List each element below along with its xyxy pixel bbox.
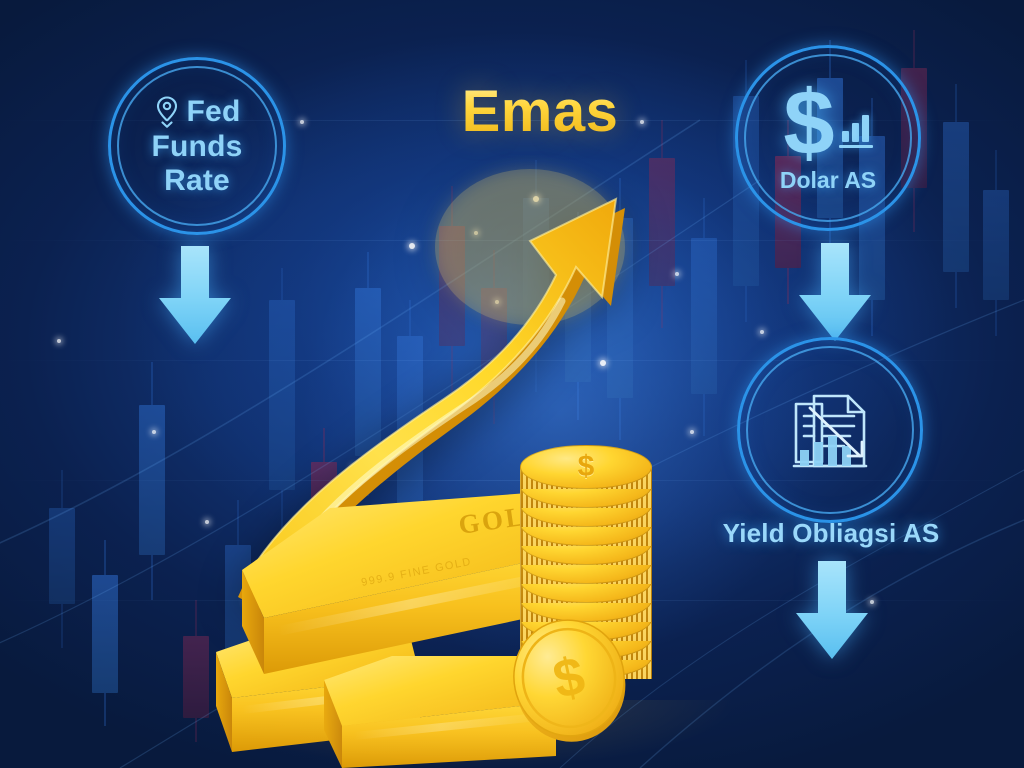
- badge-dolar-as[interactable]: $ Dolar AS: [735, 45, 921, 231]
- sparkle: [300, 120, 304, 124]
- badge-fed-label-line-1: Fed: [187, 96, 241, 128]
- badge-fed-label-line-3: Rate: [164, 165, 230, 197]
- sparkle: [760, 330, 764, 334]
- sparkle: [152, 430, 156, 434]
- coin-dollar-symbol: $: [520, 445, 652, 489]
- arrow-dolar-as-down: [785, 240, 885, 345]
- badge-fed-label-line-2: Funds: [152, 131, 243, 163]
- sparkle: [675, 272, 679, 276]
- bar-chart-icon: [839, 114, 873, 148]
- sparkle: [57, 339, 61, 343]
- location-pin-down-icon: [154, 95, 180, 129]
- badge-dolar-as-label: Dolar AS: [780, 168, 876, 192]
- sparkle: [205, 520, 209, 524]
- infographic-canvas: Emas Fed Funds Rate: [0, 0, 1024, 768]
- arrow-yield-down: [782, 558, 882, 663]
- loose-coin: $: [508, 612, 630, 744]
- page-title: Emas: [430, 78, 650, 145]
- bond-document-declining-icon: [774, 374, 886, 486]
- badge-yield-obligasi-as[interactable]: [737, 337, 923, 523]
- dollar-sign-icon: $: [783, 83, 834, 164]
- badge-yield-obligasi-label: Yield Obliagsi AS: [700, 518, 962, 549]
